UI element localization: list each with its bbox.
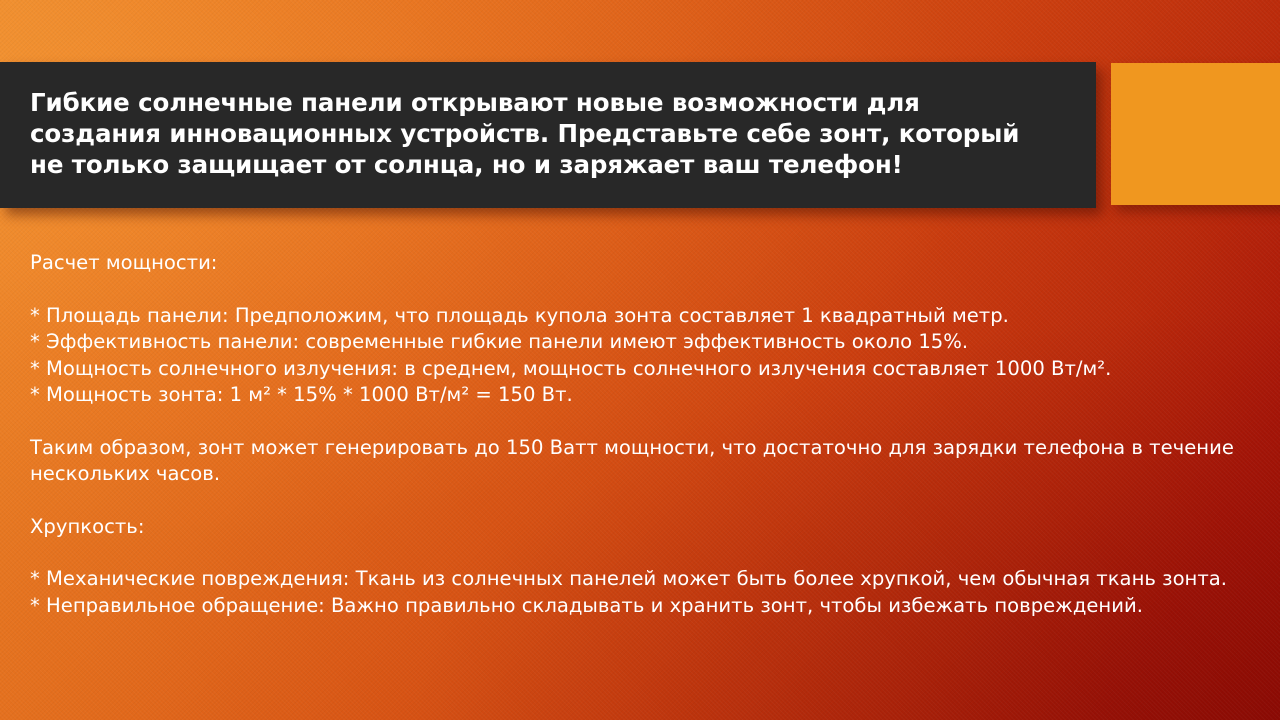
slide-body: Расчет мощности: * Площадь панели: Предп… bbox=[30, 250, 1258, 619]
fragility-heading: Хрупкость: bbox=[30, 514, 1258, 541]
decorative-accent-rectangle bbox=[1111, 63, 1280, 205]
power-calculation-conclusion: Таким образом, зонт может генерировать д… bbox=[30, 435, 1258, 488]
title-banner: Гибкие солнечные панели открывают новые … bbox=[0, 62, 1096, 208]
power-calculation-bullets: * Площадь панели: Предположим, что площа… bbox=[30, 303, 1258, 409]
fragility-bullets: * Механические повреждения: Ткань из сол… bbox=[30, 566, 1258, 619]
power-calculation-heading: Расчет мощности: bbox=[30, 250, 1258, 277]
presentation-slide: Гибкие солнечные панели открывают новые … bbox=[0, 0, 1280, 720]
slide-title: Гибкие солнечные панели открывают новые … bbox=[30, 87, 1040, 180]
